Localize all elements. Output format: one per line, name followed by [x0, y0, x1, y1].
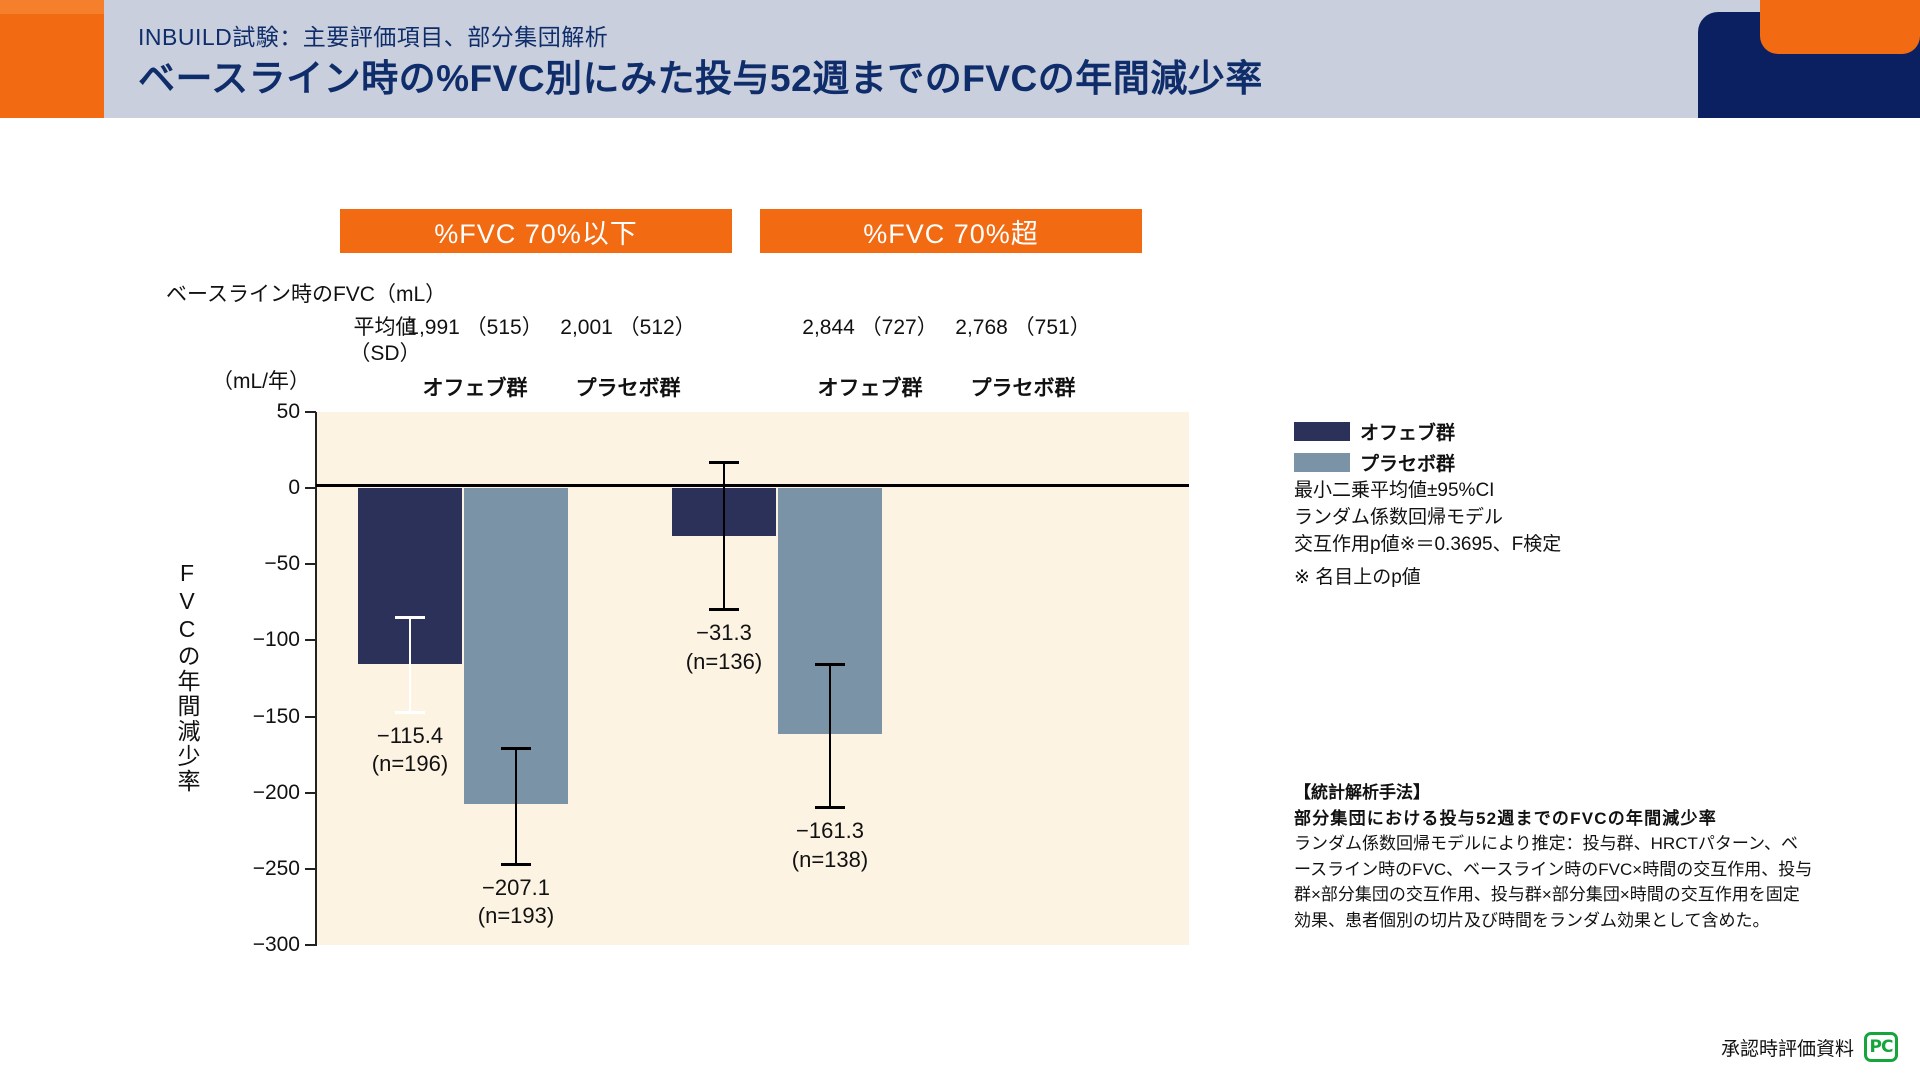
header-orange-block: [0, 14, 104, 118]
p-value-footnote: ※ 名目上のp値: [1294, 562, 1421, 589]
y-tick-mark: [305, 411, 316, 413]
bar-value-label: −161.3 (n=138): [735, 817, 925, 874]
header: INBUILD試験：主要評価項目、部分集団解析 ベースライン時の%FVC別にみた…: [0, 0, 1920, 118]
error-bar-cap-top: [815, 663, 845, 666]
pc-logo-icon: PC: [1864, 1032, 1898, 1062]
error-bar-cap-bottom: [815, 806, 845, 809]
error-bar-stem: [409, 616, 411, 713]
col-stat-2: 2,001 （512）: [553, 315, 703, 341]
col-stat-1: 1,991 （515）: [400, 315, 550, 341]
bar-value-label: −115.4 (n=196): [315, 722, 505, 779]
error-bar-cap-bottom: [709, 608, 739, 611]
method-body: ランダム係数回帰モデルにより推定：投与群、HRCTパターン、ベースライン時のFV…: [1294, 831, 1814, 933]
error-bar-stem: [515, 747, 517, 866]
y-tick-mark: [305, 868, 316, 870]
legend: オフェブ群 プラセボ群: [1294, 418, 1455, 480]
error-bar-cap-top: [395, 616, 425, 619]
header-orange-decoration: [1760, 0, 1920, 54]
bar-value-label: −31.3 (n=136): [629, 619, 819, 676]
y-tick-label: −300: [210, 933, 300, 957]
footer-text: 承認時評価資料: [1721, 1034, 1854, 1061]
y-tick-mark: [305, 639, 316, 641]
header-orange-accent-top: [0, 0, 104, 14]
y-tick-label: −200: [210, 781, 300, 805]
col-arm-4: プラセボ群: [948, 372, 1098, 402]
error-bar: [390, 616, 430, 713]
bar-value-label: −207.1 (n=193): [421, 874, 611, 931]
error-bar: [704, 461, 744, 612]
y-tick-label: −50: [210, 552, 300, 576]
method-subtitle: 部分集団における投与52週までのFVCの年間減少率: [1294, 806, 1814, 832]
y-tick-mark: [305, 944, 316, 946]
y-tick-mark: [305, 487, 316, 489]
col-arm-2: プラセボ群: [553, 372, 703, 402]
page-title: ベースライン時の%FVC別にみた投与52週までのFVCの年間減少率: [138, 48, 1263, 102]
group-band-fvc-gt70: %FVC 70%超: [760, 209, 1142, 253]
error-bar-stem: [723, 461, 725, 612]
y-tick-label: −250: [210, 857, 300, 881]
legend-label-ofev: オフェブ群: [1360, 418, 1455, 445]
baseline-fvc-label: ベースライン時のFVC（mL）: [166, 278, 446, 308]
y-axis-unit-label: （mL/年）: [212, 365, 310, 395]
legend-label-placebo: プラセボ群: [1360, 449, 1455, 476]
col-stat-4: 2,768 （751）: [948, 315, 1098, 341]
col-arm-1: オフェブ群: [400, 372, 550, 402]
col-stat-3: 2,844 （727）: [795, 315, 945, 341]
y-tick-mark: [305, 792, 316, 794]
slide-root: INBUILD試験：主要評価項目、部分集団解析 ベースライン時の%FVC別にみた…: [0, 0, 1920, 1080]
y-tick-label: 0: [210, 476, 300, 500]
zero-line: [316, 484, 1189, 487]
legend-swatch-icon-ofev: [1294, 422, 1350, 441]
y-tick-mark: [305, 716, 316, 718]
error-bar-cap-bottom: [501, 863, 531, 866]
y-tick-label: −150: [210, 705, 300, 729]
error-bar-cap-top: [501, 747, 531, 750]
statistics-note: 最小二乗平均値±95%CI ランダム係数回帰モデル 交互作用p値※＝0.3695…: [1294, 478, 1561, 559]
y-tick-mark: [305, 563, 316, 565]
group-band-fvc-le70: %FVC 70%以下: [340, 209, 732, 253]
error-bar-cap-top: [709, 461, 739, 464]
legend-item-placebo: プラセボ群: [1294, 449, 1455, 476]
y-tick-label: 50: [210, 400, 300, 424]
y-tick-label: −100: [210, 628, 300, 652]
method-block: 【統計解析手法】 部分集団における投与52週までのFVCの年間減少率 ランダム係…: [1294, 780, 1814, 933]
col-arm-3: オフェブ群: [795, 372, 945, 402]
y-axis-title: FVCの年間減少率: [170, 560, 204, 794]
footer: 承認時評価資料 PC: [1721, 1032, 1898, 1062]
y-axis: [315, 412, 317, 946]
error-bar-cap-bottom: [395, 711, 425, 714]
header-eyebrow: INBUILD試験：主要評価項目、部分集団解析: [138, 18, 608, 52]
method-title: 【統計解析手法】: [1294, 780, 1814, 806]
error-bar-stem: [829, 663, 831, 809]
error-bar: [810, 663, 850, 809]
legend-swatch-icon-placebo: [1294, 453, 1350, 472]
legend-item-ofev: オフェブ群: [1294, 418, 1455, 445]
